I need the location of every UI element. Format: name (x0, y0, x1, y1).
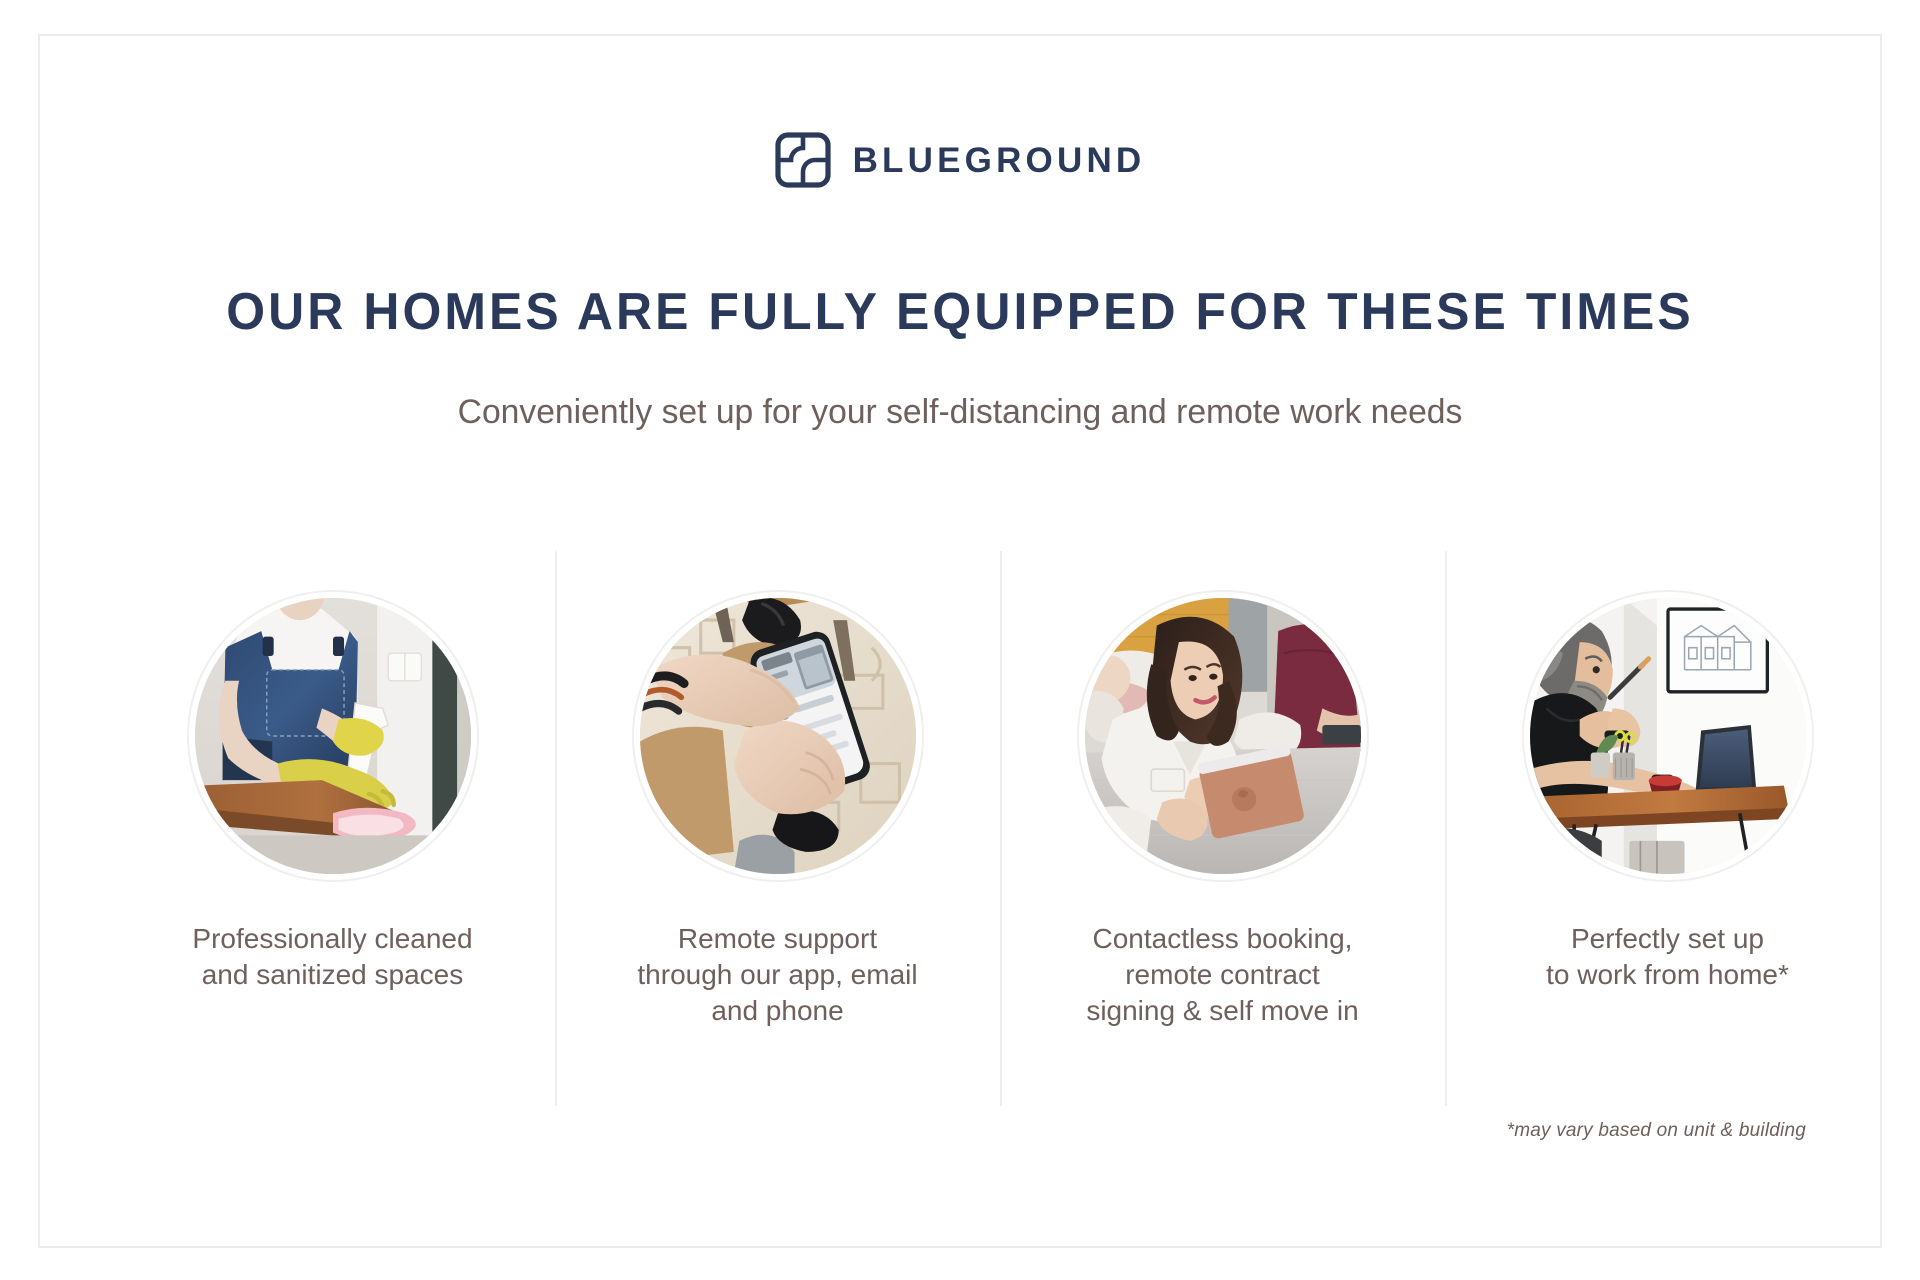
feature-photo-frame (632, 590, 924, 882)
footnote-disclaimer: *may vary based on unit & building (1507, 1120, 1806, 1142)
feature-column-remote-support: Remote support through our app, email an… (555, 551, 1000, 1106)
page-subtitle: Conveniently set up for your self-distan… (49, 391, 1871, 434)
photo-work-from-home (1530, 598, 1806, 874)
photo-contactless-booking (1085, 598, 1361, 874)
brand-wordmark: BLUEGROUND (853, 143, 1146, 178)
feature-caption: Perfectly set up to work from home* (1546, 921, 1789, 993)
feature-column-cleaning: Professionally cleaned and sanitized spa… (110, 551, 555, 1106)
photo-remote-support (640, 598, 916, 874)
page-title: OUR HOMES ARE FULLY EQUIPPED FOR THESE T… (77, 284, 1843, 341)
blueground-logo-icon (775, 132, 831, 188)
feature-caption: Remote support through our app, email an… (637, 921, 917, 1028)
brand-lockup: BLUEGROUND (40, 132, 1880, 188)
feature-columns: Professionally cleaned and sanitized spa… (110, 551, 1890, 1106)
feature-photo-frame (1522, 590, 1814, 882)
photo-professionally-cleaned (195, 598, 471, 874)
feature-photo-frame (187, 590, 479, 882)
feature-column-work-from-home: Perfectly set up to work from home* (1445, 551, 1890, 1106)
feature-column-contactless-booking: Contactless booking, remote contract sig… (1000, 551, 1445, 1106)
poster-frame: BLUEGROUND OUR HOMES ARE FULLY EQUIPPED … (38, 34, 1882, 1248)
feature-photo-frame (1077, 590, 1369, 882)
feature-caption: Contactless booking, remote contract sig… (1086, 921, 1358, 1028)
feature-caption: Professionally cleaned and sanitized spa… (192, 921, 472, 993)
